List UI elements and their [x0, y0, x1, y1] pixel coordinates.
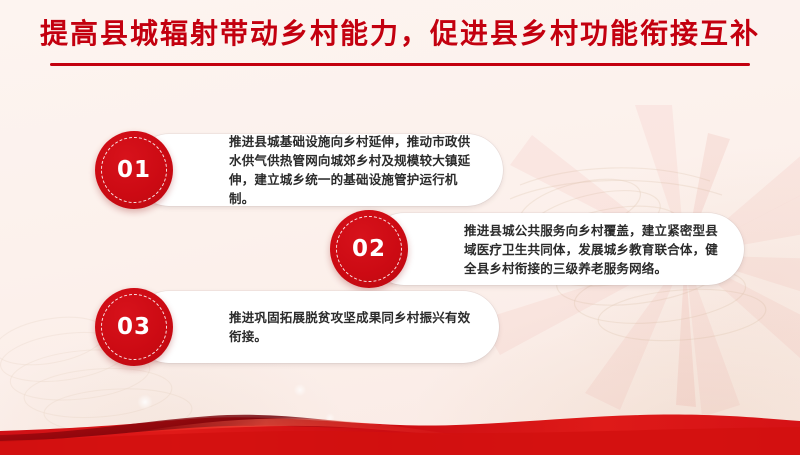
list-item[interactable]: 推进巩固拓展脱贫攻坚成果同乡村振兴有效衔接。 03 — [95, 288, 503, 366]
item-number: 02 — [352, 238, 386, 261]
page-title: 提高县城辐射带动乡村能力，促进县乡村功能衔接互补 — [40, 16, 760, 54]
list-item[interactable]: 推进县城基础设施向乡村延伸，推动市政供水供气供热管网向城郊乡村及规模较大镇延伸，… — [95, 131, 507, 209]
page-title-block: 提高县城辐射带动乡村能力，促进县乡村功能衔接互补 — [0, 16, 800, 54]
list-item[interactable]: 推进县城公共服务向乡村覆盖，建立紧密型县域医疗卫生共同体，发展城乡教育联合体，健… — [330, 210, 748, 288]
item-text: 推进县城公共服务向乡村覆盖，建立紧密型县域医疗卫生共同体，发展城乡教育联合体，健… — [464, 221, 722, 278]
item-number-badge: 01 — [95, 131, 173, 209]
item-card: 推进县城公共服务向乡村覆盖，建立紧密型县域医疗卫生共同体，发展城乡教育联合体，健… — [368, 213, 744, 285]
item-card: 推进巩固拓展脱贫攻坚成果同乡村振兴有效衔接。 — [133, 291, 499, 363]
title-underline-rule — [50, 63, 750, 66]
item-text: 推进巩固拓展脱贫攻坚成果同乡村振兴有效衔接。 — [229, 308, 477, 346]
item-number-badge: 03 — [95, 288, 173, 366]
item-text: 推进县城基础设施向乡村延伸，推动市政供水供气供热管网向城郊乡村及规模较大镇延伸，… — [229, 132, 481, 208]
item-number: 03 — [117, 316, 151, 339]
slide-canvas: 提高县城辐射带动乡村能力，促进县乡村功能衔接互补 推进县城基础设施向乡村延伸，推… — [0, 0, 800, 455]
item-number-badge: 02 — [330, 210, 408, 288]
item-card: 推进县城基础设施向乡村延伸，推动市政供水供气供热管网向城郊乡村及规模较大镇延伸，… — [133, 134, 503, 206]
item-number: 01 — [117, 159, 151, 182]
